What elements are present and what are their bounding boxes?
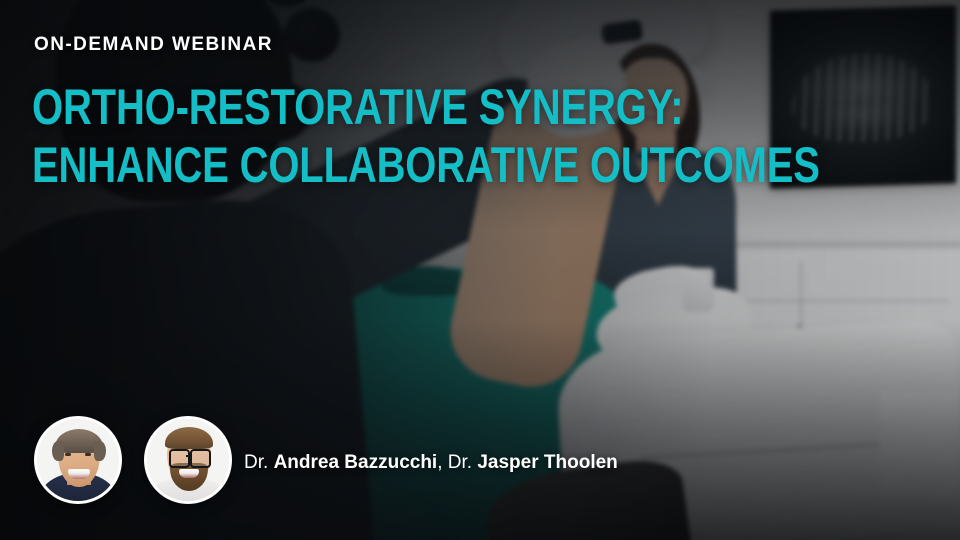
presenter-1-name: Andrea Bazzucchi bbox=[274, 452, 438, 473]
headline-line-1: ORTHO-RESTORATIVE SYNERGY: bbox=[32, 78, 820, 136]
presenter-names: Dr. Andrea Bazzucchi, Dr. Jasper Thoolen bbox=[244, 452, 618, 474]
page-title: ORTHO-RESTORATIVE SYNERGY: ENHANCE COLLA… bbox=[32, 78, 820, 194]
banner-content: ON-DEMAND WEBINAR ORTHO-RESTORATIVE SYNE… bbox=[0, 0, 960, 540]
avatar-eye-left bbox=[65, 453, 71, 456]
presenter-2-name: Jasper Thoolen bbox=[477, 452, 617, 473]
avatar-hair-side-left bbox=[52, 441, 64, 461]
avatar-hair-side-right bbox=[94, 441, 106, 461]
presenter-separator: , bbox=[437, 452, 448, 473]
eyebrow-label: ON-DEMAND WEBINAR bbox=[34, 34, 273, 56]
avatar-eye-right bbox=[85, 453, 91, 456]
presenter-avatar-jasper-thoolen bbox=[144, 416, 232, 504]
presenter-1-title: Dr. bbox=[244, 452, 268, 473]
avatar-glasses-bridge bbox=[186, 455, 192, 457]
headline-line-2: ENHANCE COLLABORATIVE OUTCOMES bbox=[32, 136, 820, 194]
avatar-smile bbox=[68, 469, 90, 479]
avatar-smile bbox=[179, 469, 199, 478]
webinar-promo-banner: ON-DEMAND WEBINAR ORTHO-RESTORATIVE SYNE… bbox=[0, 0, 960, 540]
presenter-2-title: Dr. bbox=[448, 452, 472, 473]
presenter-avatar-andrea-bazzucchi bbox=[34, 416, 122, 504]
